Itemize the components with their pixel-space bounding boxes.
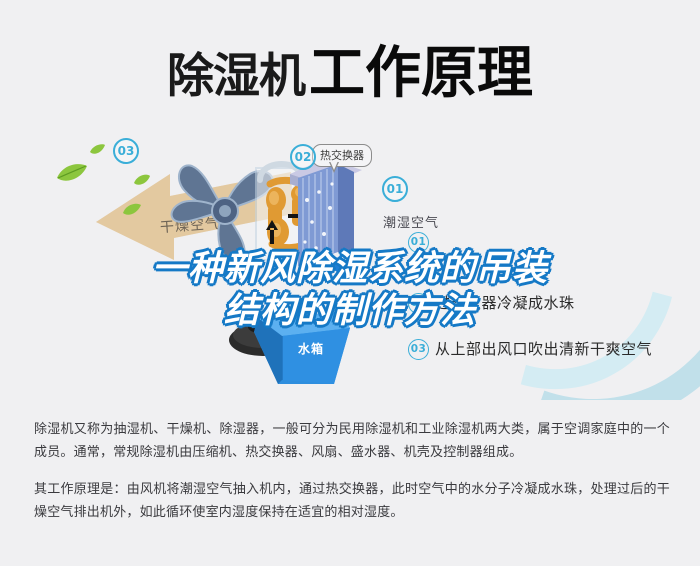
page-title-part-2: 工作原理 bbox=[309, 41, 533, 106]
dehumidifier-diagram: 干燥空气 bbox=[0, 120, 700, 400]
heat-exchanger-callout: 热交换器 bbox=[312, 144, 372, 167]
diagram-note-02-badge: 02 bbox=[408, 293, 429, 314]
leaf-icon bbox=[133, 172, 151, 191]
leaf-icon bbox=[55, 162, 89, 188]
page-root: 除湿机工作原理 干燥空气 bbox=[0, 0, 700, 566]
diagram-note-03: 03从上部出风口吹出清新干爽空气 bbox=[408, 338, 652, 360]
diagram-note-01: 01 bbox=[408, 232, 435, 253]
leaf-icon bbox=[122, 202, 142, 221]
callout-tail-icon bbox=[329, 162, 339, 173]
diagram-note-03-badge: 03 bbox=[408, 339, 429, 360]
diagram-note-02-text: 过蒸发器冷凝成水珠 bbox=[435, 294, 575, 312]
diagram-note-01-badge: 01 bbox=[408, 232, 429, 253]
article-body: 除湿机又称为抽湿机、干燥机、除湿器，一般可分为民用除湿机和工业除湿机两大类，属于… bbox=[34, 418, 670, 538]
marker-02: 02 bbox=[290, 144, 316, 170]
marker-03: 03 bbox=[113, 138, 139, 164]
body-paragraph-1: 除湿机又称为抽湿机、干燥机、除湿器，一般可分为民用除湿机和工业除湿机两大类，属于… bbox=[34, 418, 670, 464]
diagram-note-02: 02过蒸发器冷凝成水珠 bbox=[408, 292, 575, 314]
page-title-part-1: 除湿机 bbox=[167, 49, 305, 104]
marker-01: 01 bbox=[382, 176, 408, 202]
heat-exchanger-callout-label: 热交换器 bbox=[320, 149, 364, 162]
body-paragraph-2: 其工作原理是：由风机将潮湿空气抽入机内，通过热交换器，此时空气中的水分子冷凝成水… bbox=[34, 478, 670, 524]
water-tank-label: 水箱 bbox=[298, 340, 324, 357]
leaf-icon bbox=[89, 141, 106, 160]
diagram-note-03-text: 从上部出风口吹出清新干爽空气 bbox=[435, 340, 652, 358]
page-title: 除湿机工作原理 bbox=[0, 28, 700, 109]
humid-air-label: 潮湿空气 bbox=[383, 212, 439, 231]
